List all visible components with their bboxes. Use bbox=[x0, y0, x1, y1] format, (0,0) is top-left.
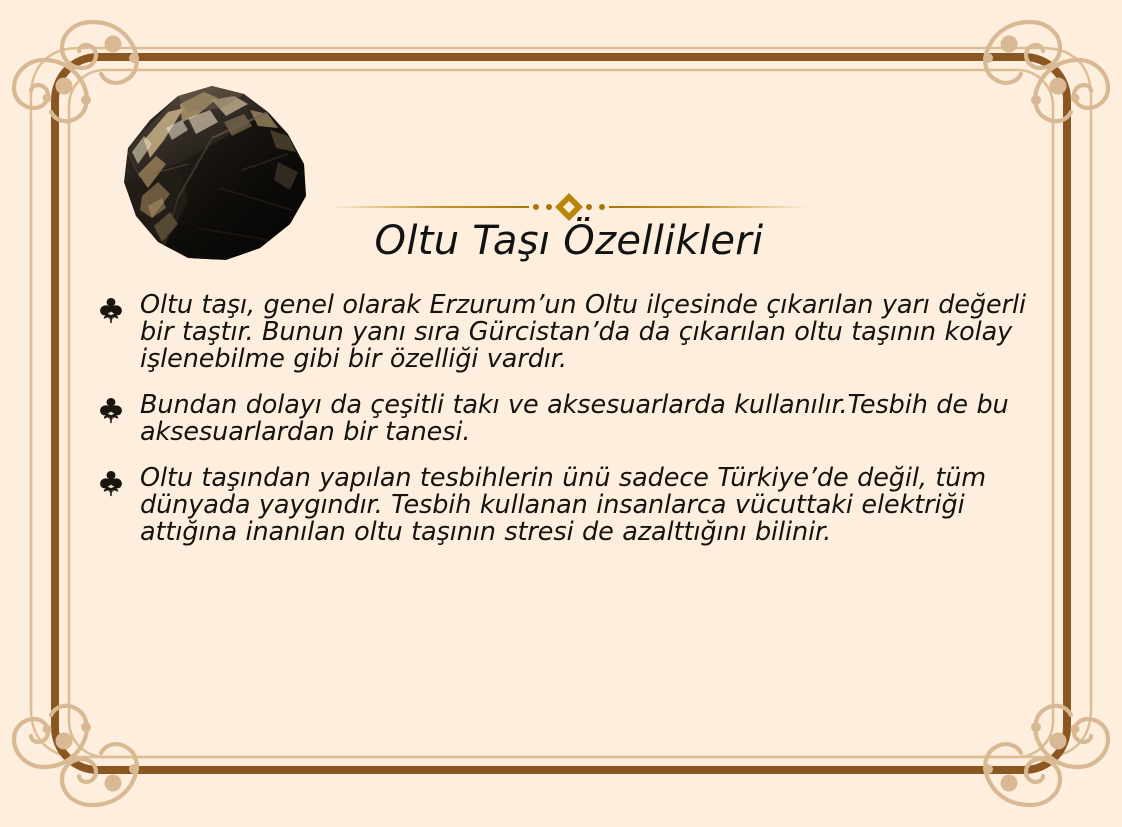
list-item-text: Oltu taşından yapılan tesbihlerin ünü sa… bbox=[140, 465, 1040, 546]
corner-flourish-top-right bbox=[983, 22, 1108, 121]
list-item-text: Bundan dolayı da çeşitli takı ve aksesua… bbox=[140, 392, 1040, 446]
page-title: Oltu Taşı Özellikleri bbox=[330, 218, 808, 264]
list-item: Bundan dolayı da çeşitli takı ve aksesua… bbox=[96, 392, 1040, 446]
list-item-text: Oltu taşı, genel olarak Erzurum’un Oltu … bbox=[140, 292, 1040, 373]
corner-flourish-bottom-left bbox=[14, 706, 139, 805]
diamond-divider-ornament bbox=[330, 193, 808, 221]
fleur-de-lis-icon bbox=[96, 469, 126, 499]
fleur-de-lis-icon bbox=[96, 396, 126, 426]
oltu-stone-photo bbox=[92, 78, 324, 270]
features-list: Oltu taşı, genel olarak Erzurum’un Oltu … bbox=[96, 292, 1040, 546]
list-item: Oltu taşından yapılan tesbihlerin ünü sa… bbox=[96, 465, 1040, 546]
fleur-de-lis-icon bbox=[96, 296, 126, 326]
corner-flourish-bottom-right bbox=[983, 706, 1108, 805]
list-item: Oltu taşı, genel olarak Erzurum’un Oltu … bbox=[96, 292, 1040, 373]
info-card: Oltu Taşı Özellikleri Oltu taşı, genel o… bbox=[0, 0, 1122, 827]
